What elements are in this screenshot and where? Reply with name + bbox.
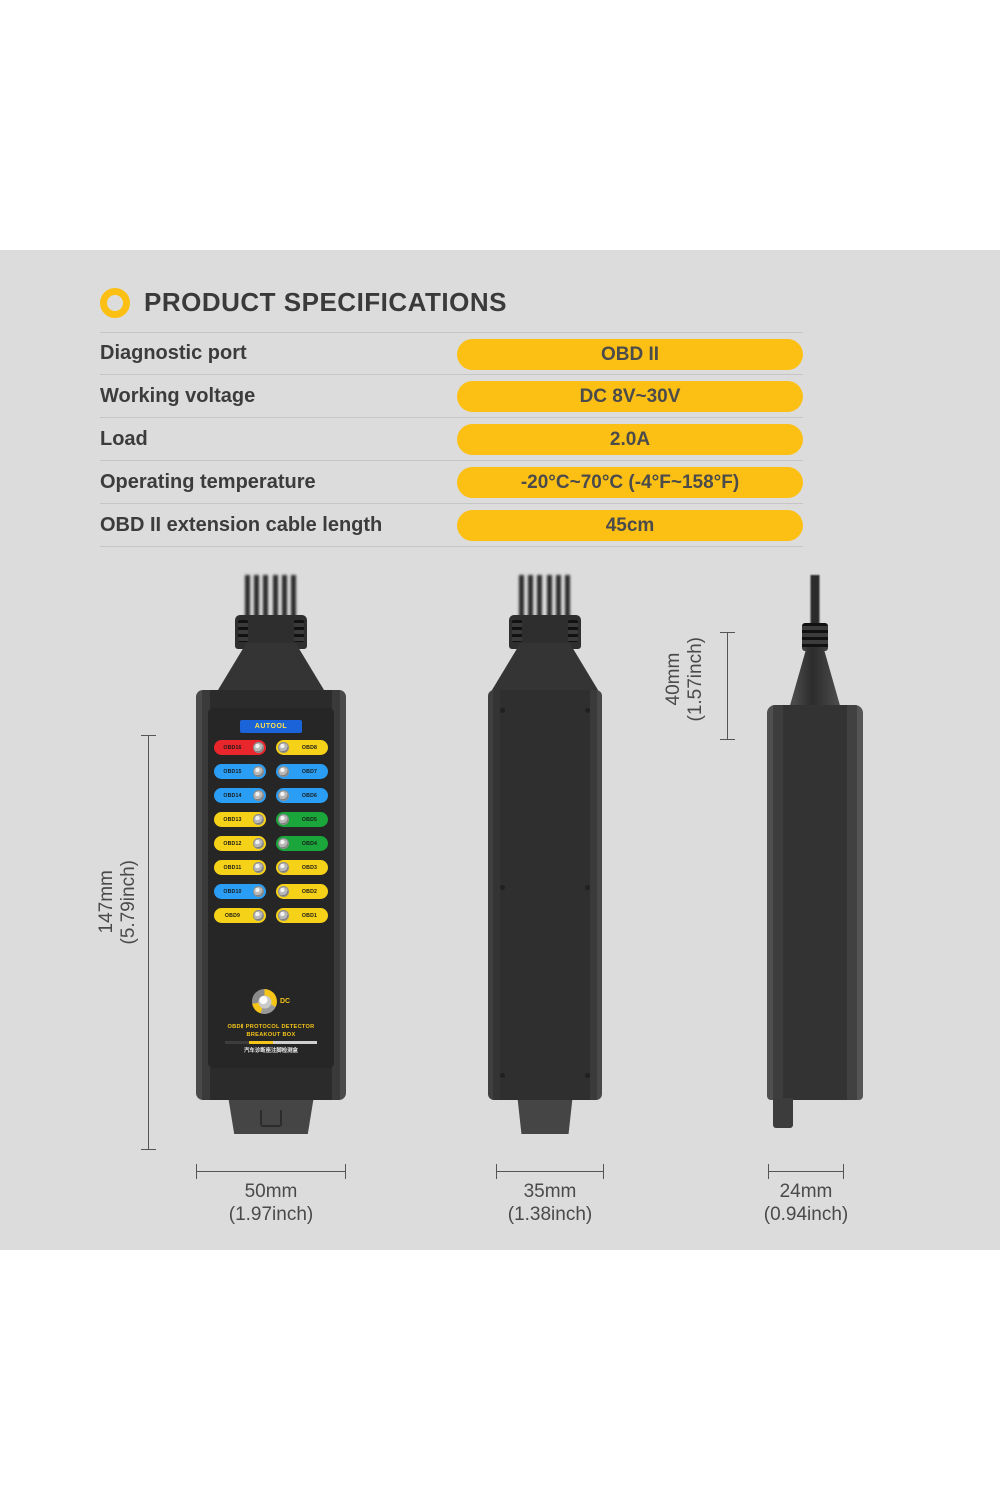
footer-line-1: OBDⅡ PROTOCOL DETECTOR — [208, 1023, 334, 1031]
pin-label: OBD13 — [214, 817, 251, 823]
brand-badge: AUTOOL — [240, 720, 302, 733]
pin-indicator-obd3: OBD3 — [276, 860, 328, 875]
pin-port-icon — [278, 838, 289, 849]
screw-icon — [500, 708, 505, 713]
pin-indicator-obd1: OBD1 — [276, 908, 328, 923]
pin-label: OBD15 — [214, 769, 251, 775]
pin-label: OBD6 — [291, 793, 328, 799]
pin-indicator-obd8: OBD8 — [276, 740, 328, 755]
device-neck — [789, 647, 841, 709]
device-faceplate: AUTOOL OBD16 OBD8 — [208, 708, 334, 1068]
device-footer-text: OBDⅡ PROTOCOL DETECTOR BREAKOUT BOX 汽车诊断… — [208, 1023, 334, 1054]
cable-strain-relief — [802, 623, 828, 651]
pin-indicator-obd11: OBD11 — [214, 860, 266, 875]
pin-port-icon — [253, 838, 264, 849]
screw-icon — [500, 885, 505, 890]
screw-icon — [500, 1073, 505, 1078]
pin-port-icon — [278, 766, 289, 777]
pin-port-icon — [278, 790, 289, 801]
device-body-edge — [767, 705, 863, 1100]
pin-port-icon — [278, 814, 289, 825]
dimension-line-width-side — [496, 1171, 604, 1172]
dimension-line-depth — [727, 632, 728, 740]
pin-label: OBD1 — [291, 913, 328, 919]
screw-icon — [585, 885, 590, 890]
dial-icon — [252, 989, 277, 1014]
pin-port-icon — [253, 910, 264, 921]
pin-row: OBD11 OBD3 — [214, 860, 328, 875]
pin-port-icon — [253, 862, 264, 873]
pin-indicator-obd6: OBD6 — [276, 788, 328, 803]
dc-label: DC — [280, 998, 290, 1005]
pin-port-icon — [278, 910, 289, 921]
pin-label: OBD3 — [291, 865, 328, 871]
dimension-label-depth: 40mm (1.57inch) — [663, 637, 707, 722]
pin-indicator-obd12: OBD12 — [214, 836, 266, 851]
pin-indicator-obd9: OBD9 — [214, 908, 266, 923]
pin-label: OBD2 — [291, 889, 328, 895]
footer-line-2: BREAKOUT BOX — [208, 1031, 334, 1039]
pin-port-icon — [278, 742, 289, 753]
screw-icon — [585, 1073, 590, 1078]
obd-connector-edge — [773, 1098, 793, 1128]
pin-port-icon — [278, 886, 289, 897]
pin-indicator-obd16: OBD16 — [214, 740, 266, 755]
dimension-label-width-edge: 24mm (0.94inch) — [696, 1181, 916, 1227]
pin-row: OBD15 OBD7 — [214, 764, 328, 779]
dc-dial-group: DC — [252, 989, 290, 1014]
pin-indicator-obd2: OBD2 — [276, 884, 328, 899]
pin-port-icon — [253, 742, 264, 753]
pin-label: OBD8 — [291, 745, 328, 751]
pin-label: OBD11 — [214, 865, 251, 871]
pin-indicator-obd4: OBD4 — [276, 836, 328, 851]
dimension-line-width-edge — [768, 1171, 844, 1172]
pin-label: OBD10 — [214, 889, 251, 895]
obd-connector-side — [514, 1100, 576, 1134]
pin-row: OBD16 OBD8 — [214, 740, 328, 755]
pin-label: OBD16 — [214, 745, 251, 751]
dimension-label-height: 147mm (5.79inch) — [96, 860, 140, 945]
device-body: AUTOOL OBD16 OBD8 — [196, 690, 346, 1100]
pin-row: OBD9 OBD1 — [214, 908, 328, 923]
pin-indicator-obd13: OBD13 — [214, 812, 266, 827]
pin-row: OBD13 OBD5 — [214, 812, 328, 827]
footer-divider-bar — [225, 1041, 317, 1044]
cable — [811, 575, 820, 629]
pin-label: OBD12 — [214, 841, 251, 847]
pin-row: OBD12 OBD4 — [214, 836, 328, 851]
pin-label: OBD7 — [291, 769, 328, 775]
pin-port-icon — [278, 862, 289, 873]
pin-indicator-obd10: OBD10 — [214, 884, 266, 899]
pin-row: OBD14 OBD6 — [214, 788, 328, 803]
pin-row: OBD10 OBD2 — [214, 884, 328, 899]
pin-indicator-obd7: OBD7 — [276, 764, 328, 779]
pin-indicator-grid: OBD16 OBD8 OBD15 — [214, 740, 328, 932]
pin-indicator-obd14: OBD14 — [214, 788, 266, 803]
pin-indicator-obd15: OBD15 — [214, 764, 266, 779]
obd-connector — [225, 1100, 317, 1134]
pin-label: OBD4 — [291, 841, 328, 847]
dimension-line-width-front — [196, 1171, 346, 1172]
dimension-label-width-front: 50mm (1.97inch) — [161, 1181, 381, 1227]
pin-port-icon — [253, 790, 264, 801]
device-neck — [215, 643, 327, 695]
pin-label: OBD14 — [214, 793, 251, 799]
product-views: AUTOOL OBD16 OBD8 — [0, 0, 1000, 1500]
pin-label: OBD9 — [214, 913, 251, 919]
pin-port-icon — [253, 766, 264, 777]
dimension-line-height — [148, 735, 149, 1150]
dimension-label-width-side: 35mm (1.38inch) — [440, 1181, 660, 1227]
pin-indicator-obd5: OBD5 — [276, 812, 328, 827]
device-body-side — [488, 690, 602, 1100]
pin-label: OBD5 — [291, 817, 328, 823]
footer-line-cn: 汽车诊断座注脚检测盒 — [208, 1046, 334, 1054]
screw-icon — [585, 708, 590, 713]
pin-port-icon — [253, 886, 264, 897]
device-neck — [489, 643, 601, 695]
pin-port-icon — [253, 814, 264, 825]
